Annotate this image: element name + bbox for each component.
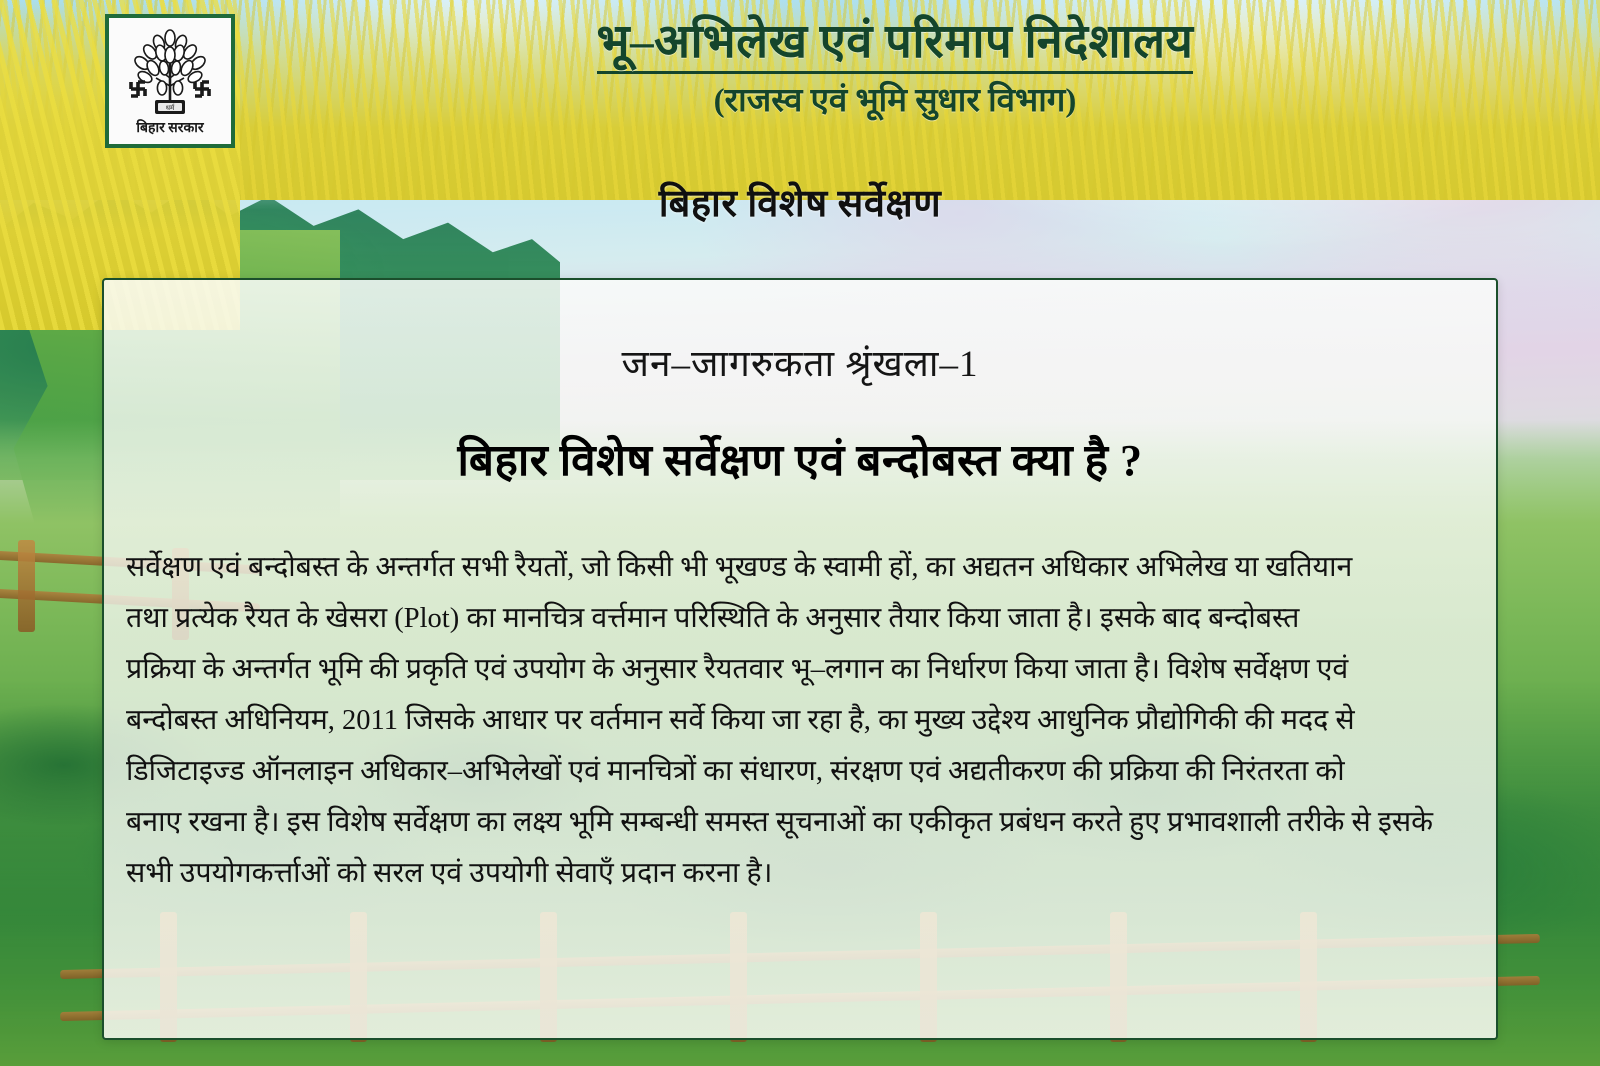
body-line: तथा प्रत्येक रैयत के खेसरा (Plot) का मान… (126, 593, 1474, 644)
body-line: सभी उपयोगकर्त्ताओं को सरल एवं उपयोगी सेव… (126, 848, 1474, 899)
emblem-caption: बिहार सरकार (135, 119, 204, 136)
body-line: डिजिटाइज्ड ऑनलाइन अधिकार–अभिलेखों एवं मा… (126, 746, 1474, 797)
body-line: सर्वेक्षण एवं बन्दोबस्त के अन्तर्गत सभी … (126, 542, 1474, 593)
scheme-title: बिहार विशेष सर्वेक्षण (0, 176, 1600, 228)
body-line: प्रक्रिया के अन्तर्गत भूमि की प्रकृति एव… (126, 644, 1474, 695)
svg-text:धर्म: धर्म (166, 103, 175, 112)
question-heading: बिहार विशेष सर्वेक्षण एवं बन्दोबस्त क्या… (104, 428, 1496, 488)
emblem-tree-icon: धर्म बिहार सरकार (114, 22, 226, 140)
body-paragraph: सर्वेक्षण एवं बन्दोबस्त के अन्तर्गत सभी … (126, 542, 1474, 899)
poster-canvas: धर्म बिहार सरकार भू–अभिलेख एवं परिमाप नि… (0, 0, 1600, 1066)
series-heading: जन–जागरुकता श्रृंखला–1 (104, 336, 1496, 387)
fence-post (18, 540, 35, 632)
bihar-government-emblem: धर्म बिहार सरकार (105, 14, 235, 148)
directorate-title-block: भू–अभिलेख एवं परिमाप निदेशालय (राजस्व एव… (250, 16, 1540, 121)
department-subtitle: (राजस्व एवं भूमि सुधार विभाग) (250, 82, 1540, 122)
poster-header: धर्म बिहार सरकार भू–अभिलेख एवं परिमाप नि… (0, 0, 1600, 258)
body-line: बनाए रखना है। इस विशेष सर्वेक्षण का लक्ष… (126, 797, 1474, 848)
content-panel: जन–जागरुकता श्रृंखला–1 बिहार विशेष सर्वे… (102, 278, 1498, 1040)
swastika-left (131, 82, 145, 96)
swastika-right (195, 82, 209, 96)
page-title: भू–अभिलेख एवं परिमाप निदेशालय (597, 16, 1194, 74)
body-line: बन्दोबस्त अधिनियम, 2011 जिसके आधार पर वर… (126, 695, 1474, 746)
